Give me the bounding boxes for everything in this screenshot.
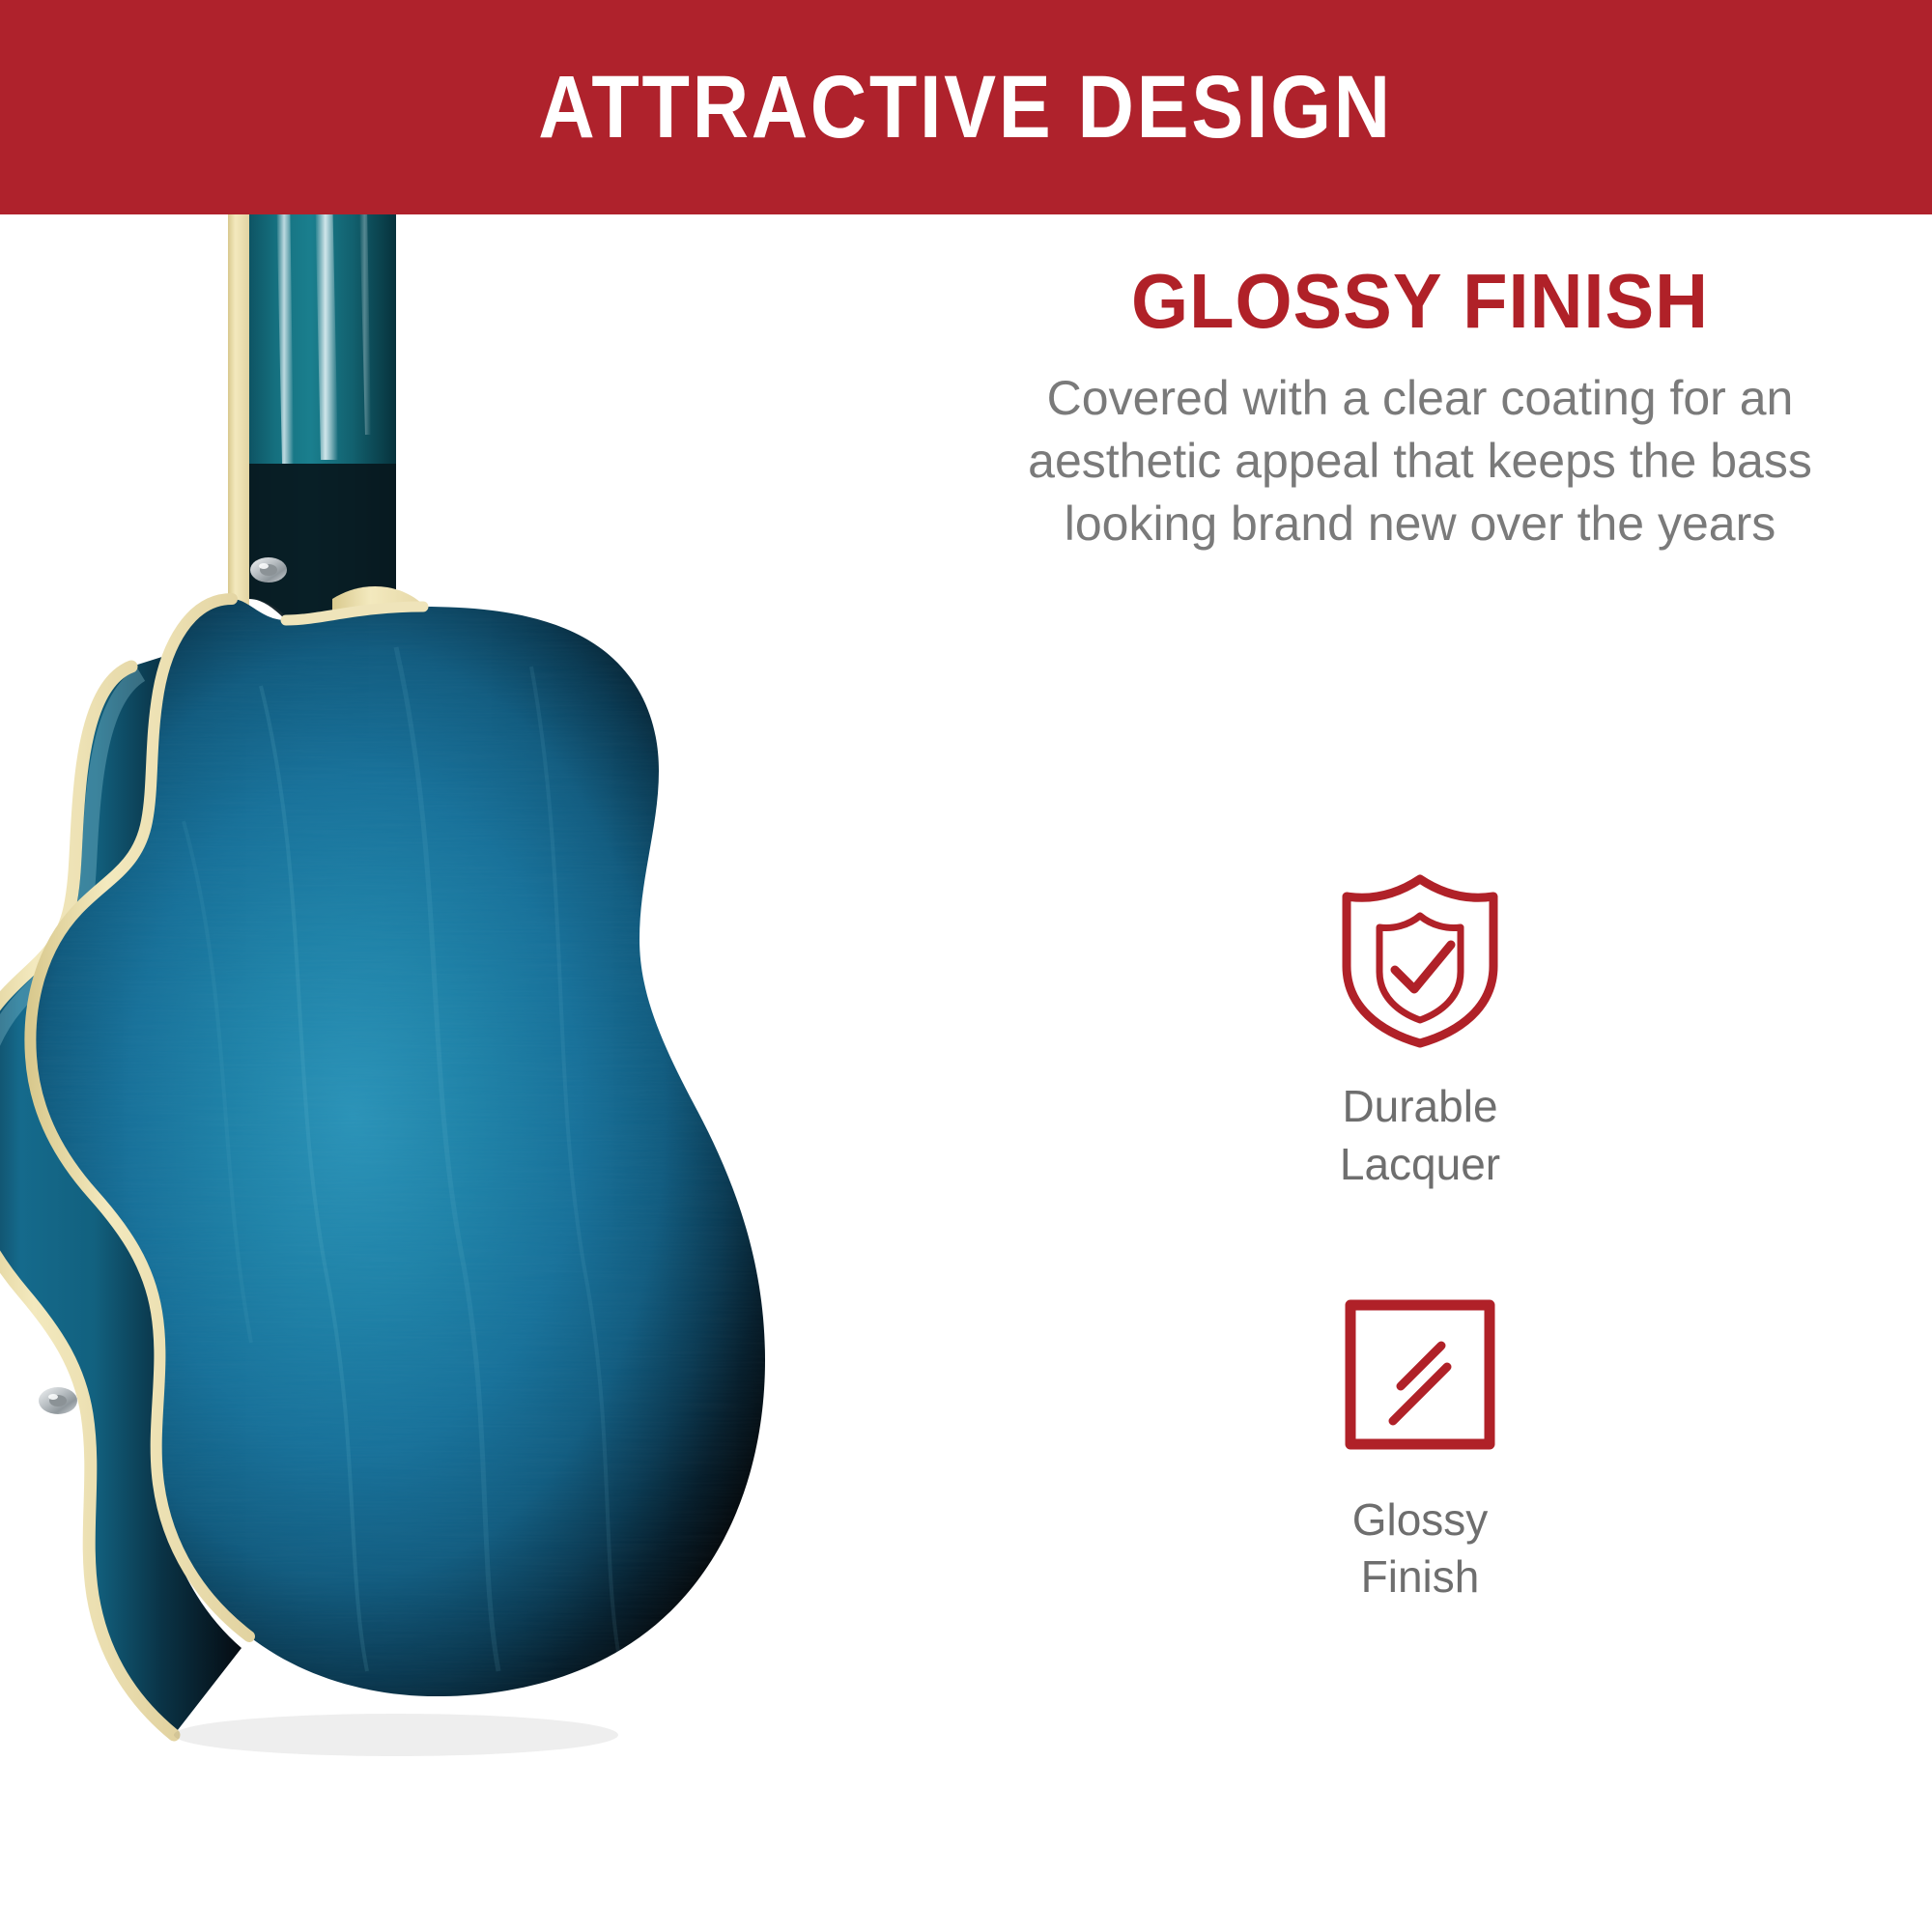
content-stage: GLOSSY FINISH Covered with a clear coati…: [0, 0, 1932, 1932]
feature-item-glossy-finish: Glossy Finish: [1121, 1283, 1719, 1607]
top-banner: ATTRACTIVE DESIGN: [0, 0, 1932, 214]
feature-text-column: GLOSSY FINISH Covered with a clear coati…: [1005, 261, 1835, 555]
product-photo-guitar: [0, 145, 1024, 1932]
section-description: Covered with a clear coating for an aest…: [1005, 367, 1835, 555]
feature-label-durable-lacquer: Durable Lacquer: [1340, 1078, 1500, 1194]
section-headline: GLOSSY FINISH: [1026, 261, 1815, 342]
feature-label-glossy-finish: Glossy Finish: [1352, 1492, 1489, 1607]
strap-button-upper: [250, 557, 287, 582]
feature-item-durable-lacquer: Durable Lacquer: [1121, 869, 1719, 1194]
banner-title: ATTRACTIVE DESIGN: [539, 63, 1393, 152]
glossy-square-shine-icon: [1328, 1283, 1512, 1466]
guitar-neck: [228, 184, 440, 647]
feature-list: Durable Lacquer Glossy Finish: [1121, 869, 1719, 1606]
shield-check-icon: [1328, 869, 1512, 1053]
strap-button-lower: [39, 1387, 77, 1414]
